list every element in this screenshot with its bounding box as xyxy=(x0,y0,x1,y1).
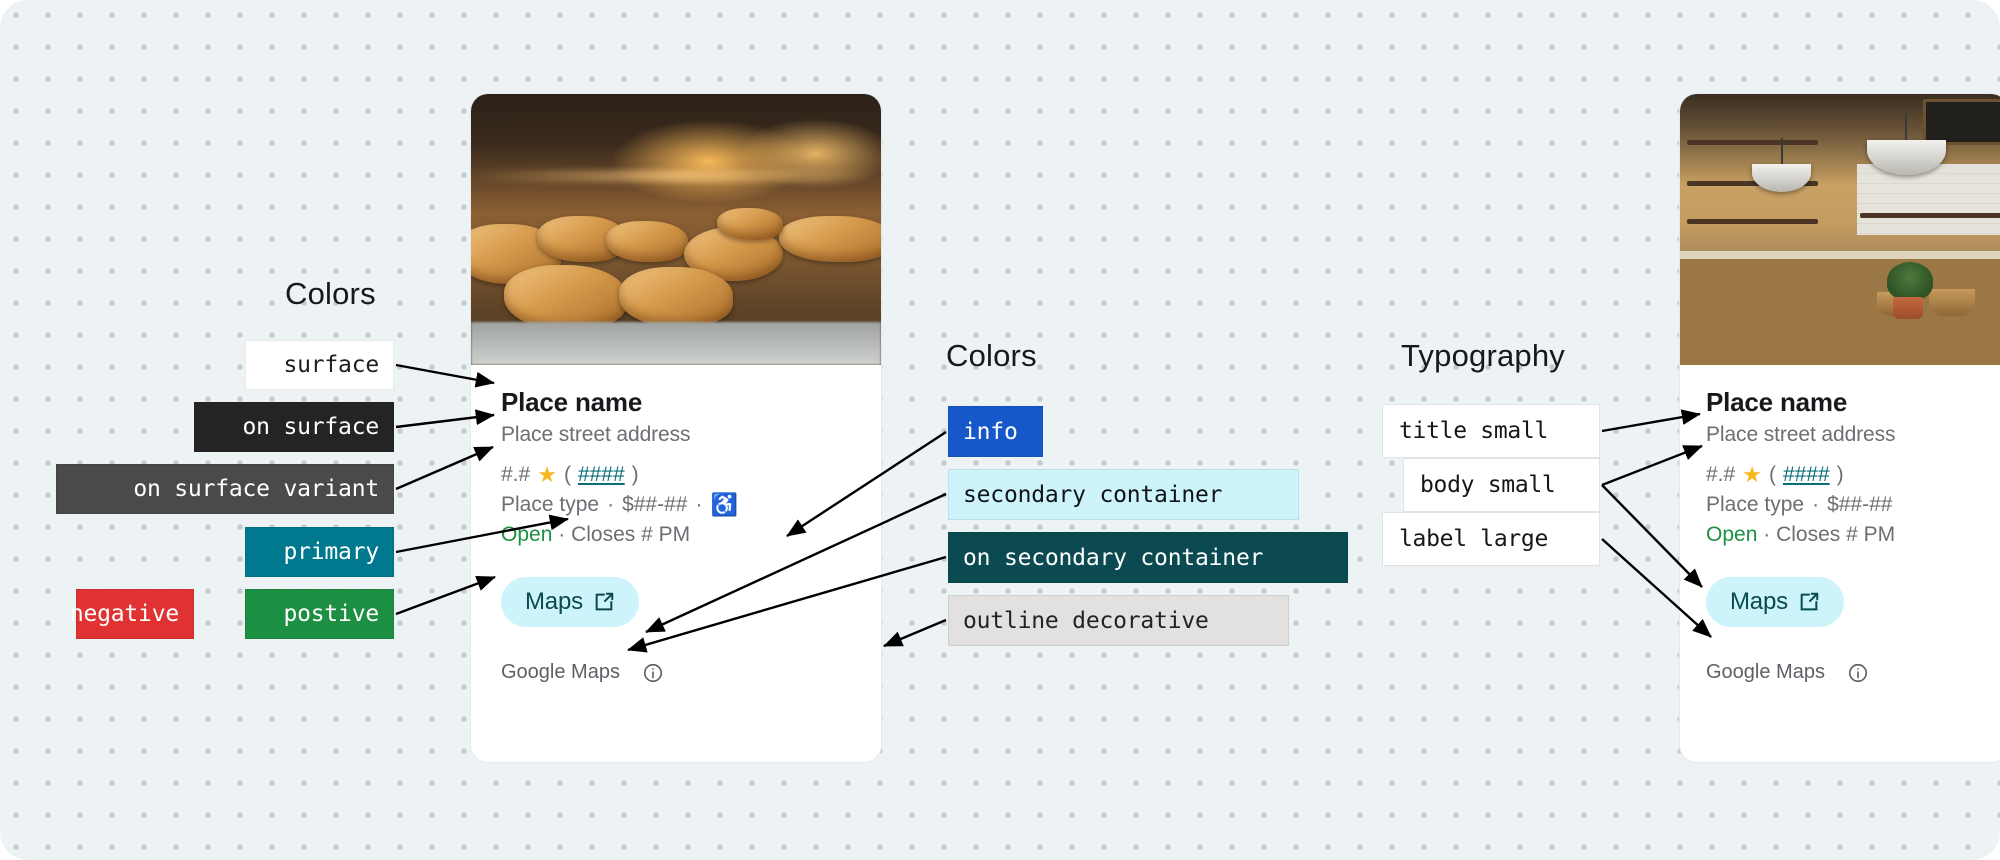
type-token-label: body small xyxy=(1420,472,1555,498)
color-token-label: outline decorative xyxy=(963,608,1209,634)
star-icon: ★ xyxy=(1742,464,1762,486)
place-address: Place street address xyxy=(501,423,851,447)
open-status-label: Open xyxy=(501,523,552,546)
external-link-icon xyxy=(593,591,615,613)
place-name: Place name xyxy=(501,387,851,418)
color-token-secondary-container[interactable]: secondary container xyxy=(948,469,1299,520)
color-token-info[interactable]: info xyxy=(948,406,1043,457)
place-photo-cafe xyxy=(1680,94,2000,365)
rating-count-link[interactable]: #### xyxy=(1783,463,1830,487)
color-token-postive[interactable]: postive xyxy=(245,589,394,639)
color-token-label: on surface xyxy=(243,414,379,440)
maps-button[interactable]: Maps xyxy=(501,577,639,627)
price-range: $##-## xyxy=(622,493,687,517)
type-token-title-small[interactable]: title small xyxy=(1382,404,1600,458)
place-type: Place type xyxy=(501,493,599,517)
meta-separator: · xyxy=(695,493,702,517)
price-range: $##-## xyxy=(1827,493,1892,517)
meta-separator: · xyxy=(1763,523,1770,546)
paren-open: ( xyxy=(1769,463,1776,487)
paren-open: ( xyxy=(564,463,571,487)
type-token-label: title small xyxy=(1399,418,1548,444)
maps-button[interactable]: Maps xyxy=(1706,577,1844,627)
card-footer: Google Maps xyxy=(1706,661,1982,684)
meta-separator: · xyxy=(558,523,565,546)
attribution-label: Google Maps xyxy=(1706,661,1825,684)
maps-button-label: Maps xyxy=(525,588,583,616)
place-photo-bakery xyxy=(471,94,881,365)
info-icon[interactable] xyxy=(1847,662,1869,684)
place-card-right: Place name Place street address #.# ★ (#… xyxy=(1679,93,2000,763)
color-token-label: primary xyxy=(283,539,379,565)
place-name: Place name xyxy=(1706,387,1982,418)
meta-separator: · xyxy=(607,493,614,517)
color-token-on-surface-variant[interactable]: on surface variant xyxy=(56,464,394,514)
place-meta-row: Place type · $##-## xyxy=(1706,493,1982,517)
section-title-colors-left: Colors xyxy=(285,276,376,312)
info-icon[interactable] xyxy=(642,662,664,684)
place-card-middle: Place name Place street address #.# ★ (#… xyxy=(470,93,882,763)
section-title-typography: Typography xyxy=(1401,338,1565,374)
color-token-label: on surface variant xyxy=(133,476,379,502)
color-token-outline-decorative[interactable]: outline decorative xyxy=(948,595,1289,646)
place-hours-row: Open · Closes # PM xyxy=(1706,523,1982,547)
color-token-label: postive xyxy=(283,601,379,627)
attribution-label: Google Maps xyxy=(501,661,620,684)
color-token-surface[interactable]: surface xyxy=(245,340,394,390)
color-token-label: surface xyxy=(283,352,379,378)
section-title-colors-mid: Colors xyxy=(946,338,1037,374)
rating-count-link[interactable]: #### xyxy=(578,463,625,487)
maps-button-label: Maps xyxy=(1730,588,1788,616)
color-token-on-surface[interactable]: on surface xyxy=(194,402,394,452)
type-token-label: label large xyxy=(1399,526,1548,552)
closing-time: Closes # PM xyxy=(571,523,690,546)
paren-close: ) xyxy=(1837,463,1844,487)
card-footer: Google Maps xyxy=(501,661,851,684)
color-token-negative[interactable]: negative xyxy=(76,589,194,639)
meta-separator: · xyxy=(1812,493,1819,517)
paren-close: ) xyxy=(632,463,639,487)
type-token-body-small[interactable]: body small xyxy=(1403,458,1600,512)
place-rating-row: #.# ★ (####) xyxy=(1706,463,1982,487)
rating-value: #.# xyxy=(501,463,530,487)
color-token-label: secondary container xyxy=(963,482,1222,508)
color-token-label: info xyxy=(963,419,1018,445)
place-hours-row: Open · Closes # PM xyxy=(501,523,851,547)
color-token-label: negative xyxy=(70,601,179,627)
rating-value: #.# xyxy=(1706,463,1735,487)
type-token-label-large[interactable]: label large xyxy=(1382,512,1600,566)
color-token-primary[interactable]: primary xyxy=(245,527,394,577)
external-link-icon xyxy=(1798,591,1820,613)
color-token-label: on secondary container xyxy=(963,545,1263,571)
star-icon: ★ xyxy=(537,464,557,486)
color-token-on-secondary-container[interactable]: on secondary container xyxy=(948,532,1348,583)
open-status-label: Open xyxy=(1706,523,1757,546)
place-meta-row: Place type · $##-## · ♿ xyxy=(501,493,851,517)
closing-time: Closes # PM xyxy=(1776,523,1895,546)
place-address: Place street address xyxy=(1706,423,1982,447)
place-type: Place type xyxy=(1706,493,1804,517)
design-annotation-canvas: Colors Colors Typography surface on surf… xyxy=(0,0,2000,860)
wheelchair-accessible-icon: ♿ xyxy=(710,494,737,516)
place-rating-row: #.# ★ (####) xyxy=(501,463,851,487)
